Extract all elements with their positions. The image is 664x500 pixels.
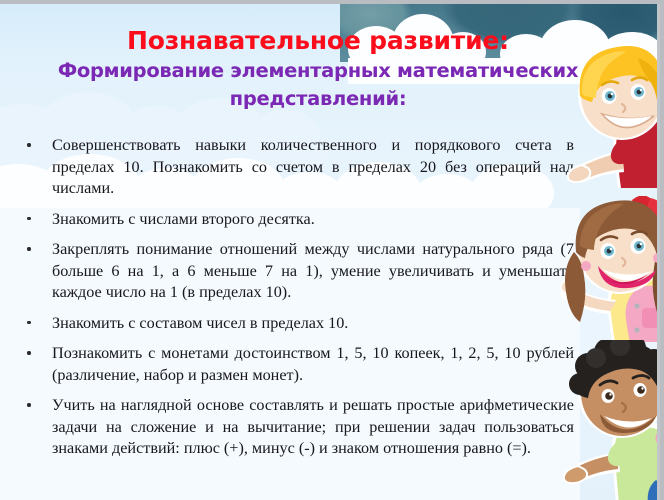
bullet-dot-icon <box>27 403 31 407</box>
list-item: Познакомить с монетами достоинством 1, 5… <box>22 343 574 386</box>
page-title: Познавательное развитие: <box>18 26 618 56</box>
bullet-dot-icon <box>27 247 31 251</box>
list-item-text: Познакомить с монетами достоинством 1, 5… <box>52 344 574 384</box>
list-item: Учить на наглядной основе составлять и р… <box>22 395 574 460</box>
list-item: Совершенствовать навыки количественного … <box>22 135 574 200</box>
page-subtitle-line-2: представлений: <box>18 86 618 112</box>
dark-hair-boy-illustration <box>560 340 664 500</box>
page-subtitle-line-1: Формирование элементарных математических <box>18 58 618 84</box>
list-item-text: Закреплять понимание отношений между чис… <box>52 240 574 301</box>
bullet-dot-icon <box>27 143 31 147</box>
slide-right-border <box>657 4 660 500</box>
bullet-list: Совершенствовать навыки количественного … <box>22 135 574 460</box>
list-item-text: Учить на наглядной основе составлять и р… <box>52 396 574 457</box>
list-item-text: Совершенствовать навыки количественного … <box>52 136 574 197</box>
brown-hair-girl-illustration <box>558 196 664 342</box>
bullet-dot-icon <box>27 351 31 355</box>
list-item: Закреплять понимание отношений между чис… <box>22 239 574 304</box>
blonde-boy-illustration <box>560 38 664 188</box>
bullet-dot-icon <box>27 321 31 325</box>
list-item: Знакомить с числами второго десятка. <box>22 209 574 231</box>
slide-canvas: Познавательное развитие: Формирование эл… <box>0 0 664 500</box>
title-block: Познавательное развитие: Формирование эл… <box>18 26 618 112</box>
list-item: Знакомить с составом чисел в пределах 10… <box>22 313 574 335</box>
list-item-text: Знакомить с составом чисел в пределах 10… <box>52 314 348 332</box>
list-item-text: Знакомить с числами второго десятка. <box>52 210 315 228</box>
bullet-dot-icon <box>27 217 31 221</box>
